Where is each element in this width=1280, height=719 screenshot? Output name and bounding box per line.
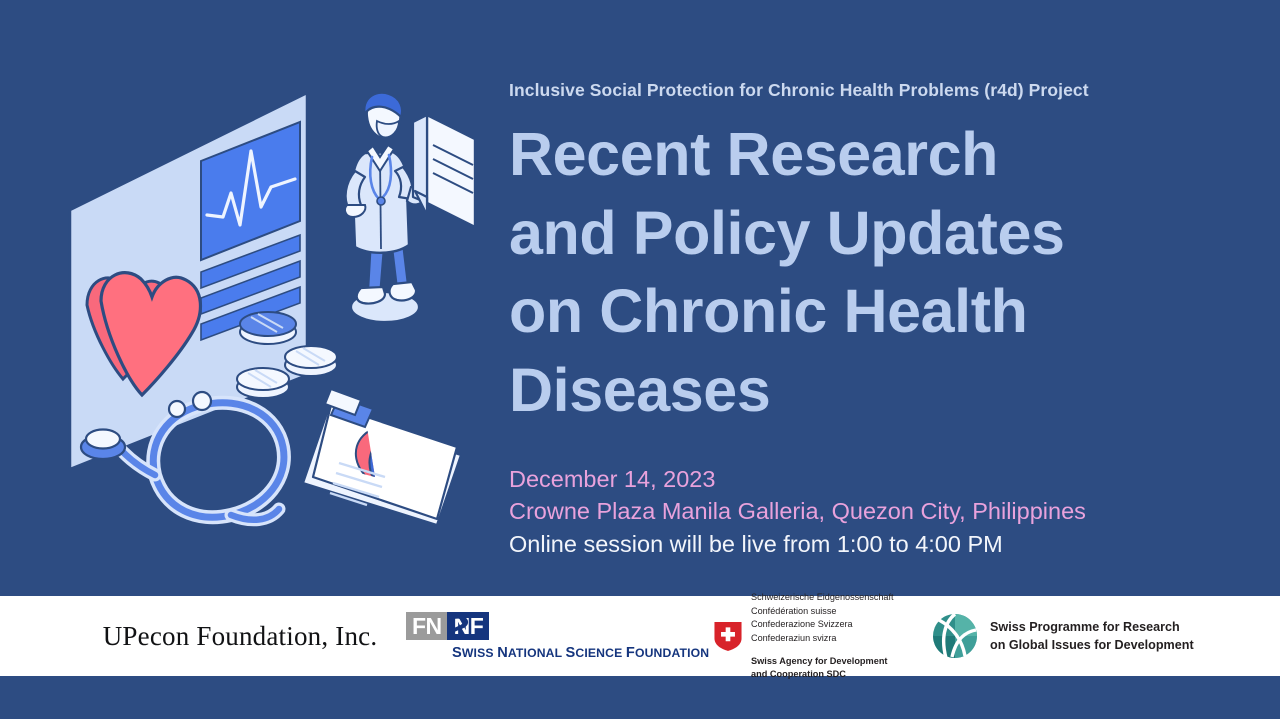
sdc-text-block: Schweizerische Eidgenossenschaft Confédé… [751, 591, 894, 681]
sponsor-logo-bar: UPecon Foundation, Inc. FN NF SWISS NATI… [0, 596, 1280, 676]
r4d-line-1: Swiss Programme for Research [990, 618, 1194, 636]
event-online-note: Online session will be live from 1:00 to… [509, 528, 1229, 560]
isometric-healthcare-illustration [55, 75, 475, 575]
patient-id-card [303, 389, 461, 525]
upecon-foundation-logo: UPecon Foundation, Inc. [80, 596, 400, 676]
headline-line-4: Diseases [509, 351, 1229, 430]
project-eyebrow: Inclusive Social Protection for Chronic … [509, 80, 1229, 101]
snsf-mark: FN NF [406, 612, 489, 640]
sdc-lang-rm: Confederaziun svizra [751, 632, 894, 646]
swiss-cross-flag-icon [714, 622, 742, 651]
headline-line-1: Recent Research [509, 115, 1229, 194]
snsf-mark-fn: FN [406, 612, 447, 640]
page-title: Recent Research and Policy Updates on Ch… [509, 115, 1229, 430]
sdc-lang-fr: Confédération suisse [751, 605, 894, 619]
event-venue: Crowne Plaza Manila Galleria, Quezon Cit… [509, 495, 1229, 527]
swiss-programme-research-global-issues-logo: Swiss Programme for Research on Global I… [932, 596, 1192, 676]
sdc-agency-line-1: Swiss Agency for Development [751, 655, 894, 668]
poster-text-column: Inclusive Social Protection for Chronic … [509, 80, 1229, 560]
headline-line-3: on Chronic Health [509, 272, 1229, 351]
r4d-text-block: Swiss Programme for Research on Global I… [990, 618, 1194, 655]
event-poster: Inclusive Social Protection for Chronic … [0, 0, 1280, 719]
sdc-lang-it: Confederazione Svizzera [751, 618, 894, 632]
sdc-lang-de: Schweizerische Eidgenossenschaft [751, 591, 894, 605]
snsf-wordmark: SWISS NATIONAL SCIENCE FOUNDATION [452, 645, 709, 661]
event-details: December 14, 2023 Crowne Plaza Manila Ga… [509, 463, 1229, 560]
snsf-s-glyph [447, 612, 471, 640]
sdc-agency-line-2: and Cooperation SDC [751, 668, 894, 681]
swiss-national-science-foundation-logo: FN NF SWISS NATIONAL SCIENCE FOUNDATION [404, 596, 694, 676]
headline-line-2: and Policy Updates [509, 194, 1229, 273]
swiss-agency-development-cooperation-logo: Schweizerische Eidgenossenschaft Confédé… [714, 596, 924, 676]
speech-bubble [413, 115, 475, 227]
r4d-globe-icon [932, 613, 978, 659]
event-date: December 14, 2023 [509, 463, 1229, 495]
r4d-line-2: on Global Issues for Development [990, 636, 1194, 654]
upecon-foundation-wordmark: UPecon Foundation, Inc. [103, 621, 378, 652]
